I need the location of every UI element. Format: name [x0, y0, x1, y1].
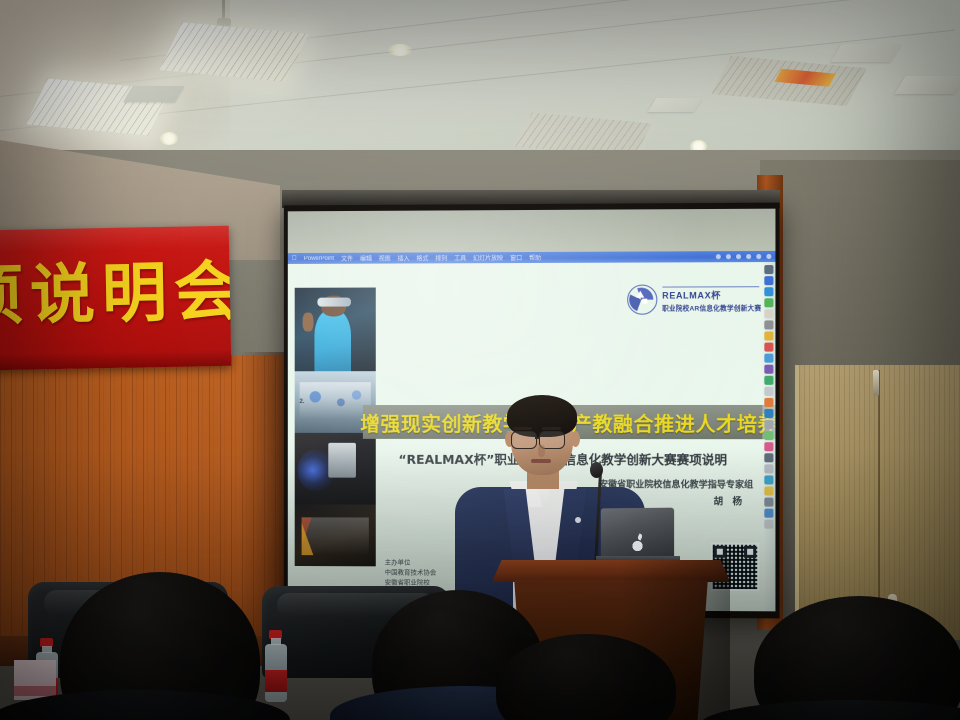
eyeglasses-bridge: [535, 437, 540, 439]
presenter-ear-right: [571, 431, 580, 447]
microphone-head-icon: [590, 462, 603, 478]
search-icon[interactable]: [716, 254, 721, 259]
dock-icon-11[interactable]: [764, 387, 773, 396]
photo-number-label: 2.: [300, 399, 305, 405]
presenter-mouth: [531, 459, 551, 463]
menubar-status-area[interactable]: [716, 254, 772, 259]
menubar-item-file[interactable]: 文件: [341, 254, 353, 263]
menubar-item-window[interactable]: 窗口: [510, 253, 522, 262]
logo-text-block: REALMAX杯 职业院校AR信息化教学创新大赛: [662, 286, 761, 312]
tissue-box-stripe: [14, 686, 56, 696]
slide-speaker-name: 胡 杨: [713, 493, 745, 507]
wifi-icon[interactable]: [746, 254, 751, 259]
battery-icon[interactable]: [756, 254, 761, 259]
dock-icon-21[interactable]: [764, 498, 773, 507]
slide-logo: REALMAX杯 职业院校AR信息化教学创新大赛: [627, 284, 761, 315]
ceiling-panel-light: [711, 56, 867, 106]
dock-icon-16[interactable]: [764, 442, 773, 451]
dock-icon-7[interactable]: [764, 343, 773, 352]
menubar-item-tools[interactable]: 工具: [454, 253, 466, 262]
logo-triangle: [636, 291, 644, 298]
eyeglasses-lens-left: [511, 431, 537, 449]
dock-icon-1[interactable]: [764, 276, 773, 285]
audience-shoulders-right: [700, 700, 960, 720]
dock-icon-9[interactable]: [764, 365, 773, 374]
volume-icon[interactable]: [736, 254, 741, 259]
dock-icon-13[interactable]: [764, 409, 773, 418]
door-top-hardware: [873, 370, 879, 396]
menubar-item-insert[interactable]: 插入: [398, 254, 410, 263]
dock-icon-18[interactable]: [764, 464, 773, 473]
dock-icon-14[interactable]: [764, 420, 773, 429]
menubar-item-app[interactable]: PowerPoint: [304, 255, 334, 261]
vr-person-body: [314, 309, 351, 371]
dock-icon-19[interactable]: [764, 475, 773, 484]
clock-icon[interactable]: [766, 254, 771, 259]
presenter-eyebrow-right: [542, 427, 561, 430]
jacket-badge: [575, 517, 581, 523]
menubar-item-format[interactable]: 格式: [416, 253, 428, 262]
dock-icon-5[interactable]: [764, 320, 773, 329]
logo-square: [642, 299, 647, 304]
menubar-item-view[interactable]: 视图: [379, 254, 391, 263]
slide-photo-ar-equipment: [295, 432, 376, 505]
ceiling-downlight: [160, 132, 178, 145]
macos-dock[interactable]: [762, 262, 775, 611]
banner-top-highlight: [0, 226, 229, 253]
banner-text: 项说明会: [0, 259, 231, 330]
bluetooth-icon[interactable]: [726, 254, 731, 259]
dock-icon-2[interactable]: [764, 287, 773, 296]
dock-icon-22[interactable]: [764, 509, 773, 518]
apple-logo-icon: [632, 538, 643, 551]
ceiling-vent: [830, 44, 901, 62]
ceiling-vent: [894, 76, 960, 94]
dock-icon-12[interactable]: [764, 398, 773, 407]
presenter-nose: [538, 445, 545, 457]
dock-icon-23[interactable]: [764, 520, 773, 529]
tools-detail: [301, 517, 369, 555]
macbook-lid: [601, 508, 674, 561]
logo-subtitle-text: 职业院校AR信息化教学创新大赛: [662, 302, 761, 312]
slide-photo-vr-headset-user: [295, 288, 376, 372]
dock-icon-4[interactable]: [764, 309, 773, 318]
slide-photo-hands-on-workbench: [295, 505, 376, 567]
menubar-item-help[interactable]: 帮助: [529, 253, 541, 262]
dock-icon-8[interactable]: [764, 354, 773, 363]
vr-person-hand: [303, 313, 314, 331]
monitor-shape: [329, 443, 357, 478]
realmax-logo-icon: [627, 285, 657, 315]
bottle-label: [265, 670, 287, 692]
dock-icon-20[interactable]: [764, 486, 773, 495]
screen-blank-area: [288, 209, 776, 253]
ceiling-downlight: [388, 44, 412, 56]
ceiling-vent: [648, 98, 703, 112]
dock-icon-0[interactable]: [764, 265, 773, 274]
logo-brand-text: REALMAX杯: [662, 288, 761, 301]
dock-icon-10[interactable]: [764, 376, 773, 385]
dock-icon-17[interactable]: [764, 453, 773, 462]
red-banner: 项说明会: [0, 226, 231, 371]
menubar-spacer: [548, 257, 709, 258]
ceiling-vent: [123, 86, 184, 102]
dock-icon-3[interactable]: [764, 298, 773, 307]
conference-photo-scene: 项说明会  PowerPoint 文件 编辑 视图 插入 格式 排列 工具 幻…: [0, 0, 960, 720]
vr-goggles-icon: [317, 298, 351, 307]
dock-icon-6[interactable]: [764, 331, 773, 340]
water-bottle-center[interactable]: [265, 630, 287, 706]
menubar-item-arrange[interactable]: 排列: [435, 253, 447, 262]
presenter-eyebrow-left: [513, 427, 532, 430]
dock-icon-15[interactable]: [764, 431, 773, 440]
apple-menu-icon[interactable]: : [292, 255, 297, 262]
menubar-item-slideshow[interactable]: 幻灯片放映: [473, 253, 503, 262]
menubar-item-edit[interactable]: 编辑: [360, 254, 372, 263]
